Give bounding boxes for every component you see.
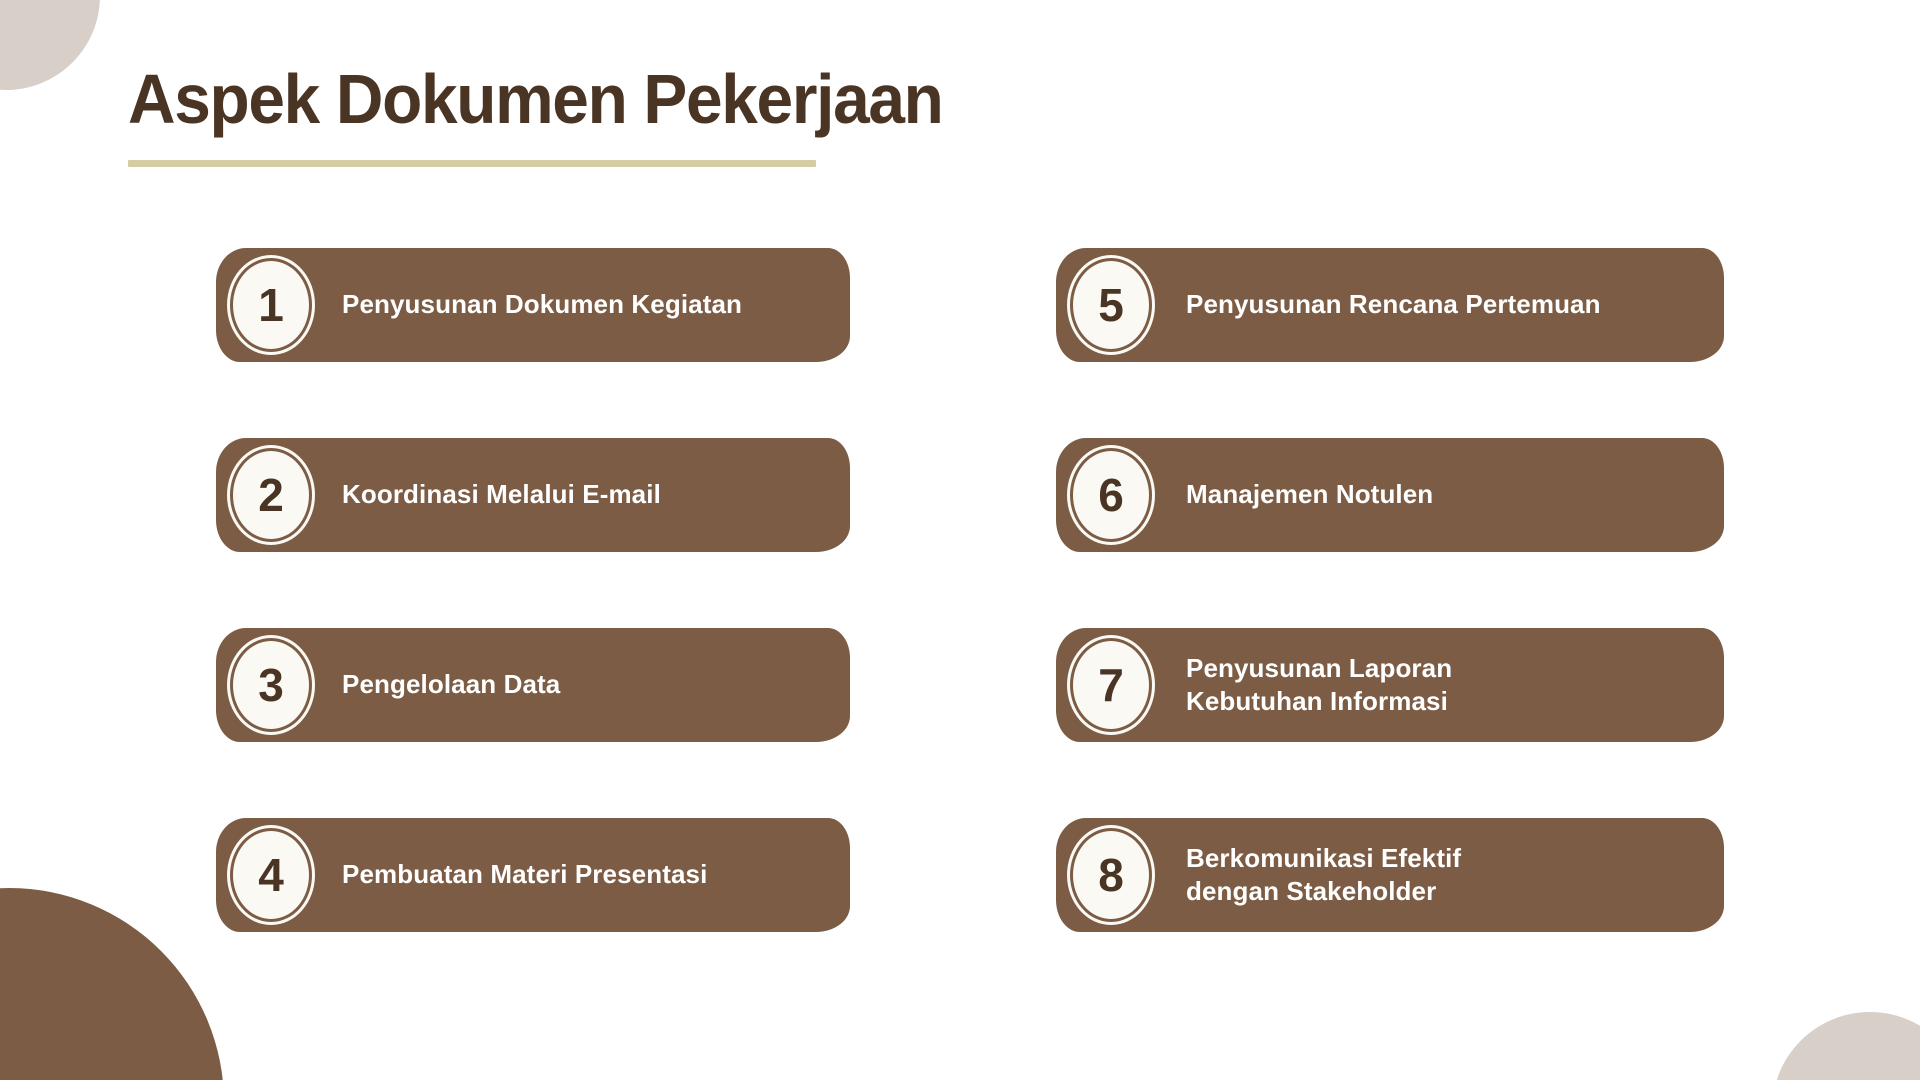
aspect-pill-1[interactable]: 1Penyusunan Dokumen Kegiatan	[216, 248, 850, 362]
aspect-pill-7[interactable]: 7Penyusunan Laporan Kebutuhan Informasi	[1056, 628, 1724, 742]
page-title: Aspek Dokumen Pekerjaan	[128, 62, 1256, 136]
pill-number-badge: 4	[230, 828, 312, 922]
pill-number-badge: 8	[1070, 828, 1152, 922]
pill-column-left: 1Penyusunan Dokumen Kegiatan2Koordinasi …	[216, 248, 850, 1008]
aspect-pill-4[interactable]: 4Pembuatan Materi Presentasi	[216, 818, 850, 932]
pill-number-badge: 5	[1070, 258, 1152, 352]
pill-label: Penyusunan Rencana Pertemuan	[1160, 288, 1621, 321]
top-left-circle-decoration	[0, 0, 100, 90]
title-block: Aspek Dokumen Pekerjaan	[128, 62, 1328, 167]
pill-label: Berkomunikasi Efektif dengan Stakeholder	[1160, 842, 1560, 909]
pill-label: Penyusunan Dokumen Kegiatan	[320, 288, 762, 321]
pill-label: Pembuatan Materi Presentasi	[320, 858, 727, 891]
aspect-pill-2[interactable]: 2Koordinasi Melalui E-mail	[216, 438, 850, 552]
pill-label: Koordinasi Melalui E-mail	[320, 478, 681, 511]
aspect-pill-5[interactable]: 5Penyusunan Rencana Pertemuan	[1056, 248, 1724, 362]
pill-label: Penyusunan Laporan Kebutuhan Informasi	[1160, 652, 1560, 719]
pill-number-badge: 7	[1070, 638, 1152, 732]
title-underline	[128, 160, 816, 167]
pill-grid: 1Penyusunan Dokumen Kegiatan2Koordinasi …	[0, 248, 1920, 948]
pill-label: Pengelolaan Data	[320, 668, 580, 701]
pill-number-badge: 6	[1070, 448, 1152, 542]
pill-number-badge: 2	[230, 448, 312, 542]
pill-number-badge: 3	[230, 638, 312, 732]
pill-column-right: 5Penyusunan Rencana Pertemuan6Manajemen …	[1056, 248, 1724, 1008]
bottom-right-circle-decoration	[1772, 1012, 1920, 1080]
aspect-pill-6[interactable]: 6Manajemen Notulen	[1056, 438, 1724, 552]
pill-number-badge: 1	[230, 258, 312, 352]
pill-label: Manajemen Notulen	[1160, 478, 1453, 511]
aspect-pill-3[interactable]: 3Pengelolaan Data	[216, 628, 850, 742]
aspect-pill-8[interactable]: 8Berkomunikasi Efektif dengan Stakeholde…	[1056, 818, 1724, 932]
